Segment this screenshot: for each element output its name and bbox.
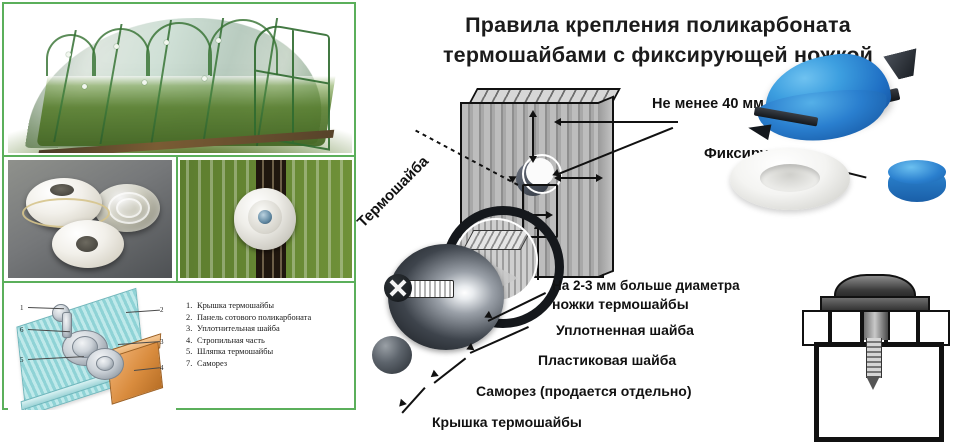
cross-section-diagram bbox=[792, 268, 956, 440]
legend-item: 7.Саморез bbox=[186, 358, 354, 370]
legend-item: 1.Крышка термошайбы bbox=[186, 300, 354, 312]
cs-sheet-rib bbox=[828, 312, 832, 344]
greenhouse-bolt bbox=[82, 84, 87, 89]
leader-line-min-distance-horizontal bbox=[558, 121, 678, 123]
greenhouse-bolt bbox=[202, 76, 207, 81]
cs-sheet-rib bbox=[916, 312, 920, 344]
legend-item-label: Саморез bbox=[197, 359, 227, 368]
panel-flute bbox=[304, 160, 307, 278]
greenhouse-photo bbox=[8, 8, 352, 153]
greenhouse-bolt bbox=[66, 52, 71, 57]
greenhouse-arch bbox=[46, 34, 96, 76]
leader-line-washer-cap bbox=[401, 387, 425, 413]
legend-item: 3.Уплотнительная шайба bbox=[186, 323, 354, 335]
washers-photo bbox=[8, 160, 172, 278]
clear-washer-inner bbox=[116, 198, 142, 218]
foam-washer-hole bbox=[50, 184, 74, 196]
left-collage: 1 2 6 3 5 4 1.Крышка термошайбы 2.Панель… bbox=[0, 0, 360, 415]
legend-item-number: 1. bbox=[186, 300, 197, 312]
arrow-right-icon bbox=[596, 174, 603, 182]
label-washer-cap: Крышка термошайбы bbox=[432, 414, 582, 430]
dimension-line-horizontal-edge bbox=[558, 177, 600, 179]
arrow-up-icon bbox=[529, 110, 537, 117]
panel-flute bbox=[222, 160, 225, 278]
panel-flute bbox=[210, 160, 213, 278]
legend-item-number: 7. bbox=[186, 358, 197, 370]
cad-callout-1: 1 bbox=[20, 304, 24, 312]
legend-item: 2.Панель сотового поликарбоната bbox=[186, 312, 354, 324]
legend-item-label: Уплотнительная шайба bbox=[197, 324, 280, 333]
frame-line-top bbox=[2, 2, 356, 4]
panel-flute bbox=[328, 160, 331, 278]
blue-cap-top bbox=[888, 160, 946, 184]
cad-callout-4: 4 bbox=[160, 364, 164, 372]
cad-leader-line bbox=[28, 307, 64, 309]
frame-line-mid-1 bbox=[2, 155, 356, 157]
phillips-screw-head-icon bbox=[384, 274, 412, 302]
screw-tip bbox=[747, 120, 772, 140]
label-hole-diameter-line2: ножки термошайбы bbox=[552, 296, 689, 312]
legend-list: 1.Крышка термошайбы 2.Панель сотового по… bbox=[186, 300, 354, 370]
greenhouse-structure bbox=[22, 14, 338, 150]
right-panel: Правила крепления поликарбоната термошай… bbox=[360, 0, 956, 448]
greenhouse-bolt bbox=[164, 40, 169, 45]
legend: 1.Крышка термошайбы 2.Панель сотового по… bbox=[186, 300, 354, 370]
foam-washer-hole bbox=[76, 236, 98, 252]
cad-drawing: 1 2 6 3 5 4 bbox=[8, 286, 176, 410]
washer-cap bbox=[372, 336, 412, 374]
blue-washer-illustration bbox=[730, 30, 956, 220]
cad-callout-2: 2 bbox=[160, 306, 164, 314]
greenhouse-bolt bbox=[114, 44, 119, 49]
screw-head bbox=[883, 48, 922, 81]
infographic-root: 1 2 6 3 5 4 1.Крышка термошайбы 2.Панель… bbox=[0, 0, 956, 448]
arrow-down-icon bbox=[529, 156, 537, 163]
label-self-tapping-screw: Саморез (продается отдельно) bbox=[476, 383, 692, 399]
frame-line-vert-mid bbox=[176, 157, 178, 281]
frame-line-right bbox=[354, 2, 356, 410]
foam-ring-hole bbox=[760, 164, 820, 192]
panel-flute bbox=[340, 160, 343, 278]
legend-item: 5.Шляпка термошайбы bbox=[186, 346, 354, 358]
legend-item-label: Панель сотового поликарбоната bbox=[197, 313, 311, 322]
legend-item: 4.Стропильная часть bbox=[186, 335, 354, 347]
legend-item-label: Стропильная часть bbox=[197, 336, 265, 345]
cad-callout-6: 6 bbox=[20, 326, 24, 334]
panel-flute bbox=[198, 160, 201, 278]
installed-screw-head bbox=[258, 210, 272, 224]
cs-screw-tip bbox=[866, 376, 880, 390]
legend-item-number: 3. bbox=[186, 323, 197, 335]
greenhouse-bolt bbox=[142, 80, 147, 85]
panel-photo bbox=[180, 160, 352, 278]
legend-item-number: 2. bbox=[186, 312, 197, 324]
frame-line-mid-2 bbox=[2, 281, 356, 283]
label-sealed-washer: Уплотненная шайба bbox=[556, 322, 694, 338]
cad-sealing-hole bbox=[96, 356, 114, 371]
arrow-left-icon bbox=[554, 118, 561, 126]
frame-line-left bbox=[2, 2, 4, 410]
cad-screw-shank bbox=[62, 312, 72, 338]
greenhouse-bolt bbox=[216, 38, 221, 43]
panel-flute bbox=[316, 160, 319, 278]
cad-callout-3: 3 bbox=[160, 338, 164, 346]
cs-screw-shank bbox=[866, 338, 882, 378]
panel-flute bbox=[186, 160, 189, 278]
label-plastic-washer: Пластиковая шайба bbox=[538, 352, 676, 368]
cs-fixing-foot bbox=[862, 312, 890, 340]
legend-item-label: Шляпка термошайбы bbox=[197, 347, 273, 356]
legend-item-label: Крышка термошайбы bbox=[197, 301, 274, 310]
legend-item-number: 5. bbox=[186, 346, 197, 358]
label-hole-diameter-line1: На 2-3 мм больше диаметра bbox=[552, 278, 740, 293]
cad-callout-5: 5 bbox=[20, 356, 24, 364]
dimension-line-vertical-edge bbox=[532, 116, 534, 158]
legend-item-number: 4. bbox=[186, 335, 197, 347]
